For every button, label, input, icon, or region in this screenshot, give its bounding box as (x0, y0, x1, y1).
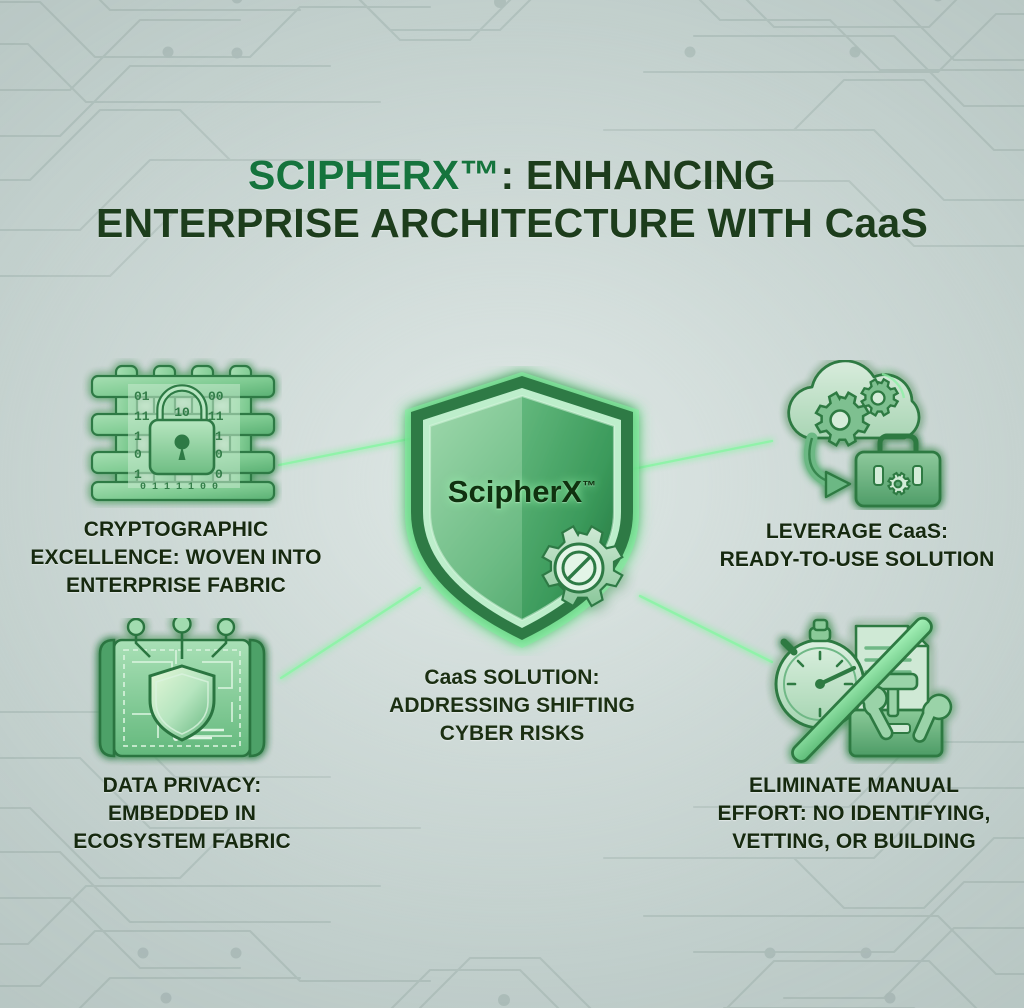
caption-eliminate-manual-effort: ELIMINATE MANUAL EFFORT: NO IDENTIFYING,… (684, 772, 1024, 856)
icon-tile-cryptographic-excellence: 0100 1111 11 00 10 0 1 1 1 1 0 0 10 (82, 358, 282, 508)
page-title: SCIPHERX™: ENHANCING ENTERPRISE ARCHITEC… (0, 152, 1024, 248)
caption-data-privacy: DATA PRIVACY: EMBEDDED IN ECOSYSTEM FABR… (14, 772, 350, 856)
svg-text:1: 1 (215, 429, 223, 444)
caption-leverage-caas: LEVERAGE CaaS: READY-TO-USE SOLUTION (690, 518, 1024, 574)
caption-line: CYBER RISKS (332, 720, 692, 748)
caption-line: EMBEDDED IN (14, 800, 350, 828)
svg-text:01: 01 (134, 389, 150, 404)
svg-text:0: 0 (134, 447, 142, 462)
central-shield-badge: ScipherX™ (383, 366, 661, 656)
caption-cryptographic-excellence: CRYPTOGRAPHIC EXCELLENCE: WOVEN INTO ENT… (0, 516, 352, 600)
icon-tile-leverage-caas (764, 360, 954, 510)
title-line-1: SCIPHERX™: ENHANCING (0, 152, 1024, 200)
caption-line: CaaS SOLUTION: (332, 664, 692, 692)
svg-text:0: 0 (215, 447, 223, 462)
caption-line: EXCELLENCE: WOVEN INTO (0, 544, 352, 572)
caption-line: CRYPTOGRAPHIC (0, 516, 352, 544)
caption-line: DATA PRIVACY: (14, 772, 350, 800)
svg-text:0 1 1 1 1 0 0: 0 1 1 1 1 0 0 (140, 482, 218, 493)
caption-center-caas-solution: CaaS SOLUTION: ADDRESSING SHIFTING CYBER… (332, 664, 692, 748)
svg-text:10: 10 (174, 405, 190, 420)
icon-tile-eliminate-manual-effort (760, 612, 966, 764)
brand-name: SCIPHERX™ (248, 152, 500, 198)
caption-line: ELIMINATE MANUAL (684, 772, 1024, 800)
svg-text:00: 00 (208, 389, 224, 404)
caption-line: READY-TO-USE SOLUTION (690, 546, 1024, 574)
caption-line: LEVERAGE CaaS: (690, 518, 1024, 546)
icon-tile-data-privacy (84, 618, 280, 766)
svg-text:11: 11 (134, 409, 150, 424)
caption-line: ENTERPRISE FABRIC (0, 572, 352, 600)
title-line-2: ENTERPRISE ARCHITECTURE WITH CaaS (0, 200, 1024, 248)
title-line-1-rest: : ENHANCING (500, 152, 776, 198)
svg-text:1: 1 (134, 429, 142, 444)
caption-line: ECOSYSTEM FABRIC (14, 828, 350, 856)
caption-line: VETTING, OR BUILDING (684, 828, 1024, 856)
svg-text:0: 0 (215, 467, 223, 482)
caption-line: EFFORT: NO IDENTIFYING, (684, 800, 1024, 828)
infographic-canvas: SCIPHERX™: ENHANCING ENTERPRISE ARCHITEC… (0, 0, 1024, 1008)
svg-text:1: 1 (134, 467, 142, 482)
caption-line: ADDRESSING SHIFTING (332, 692, 692, 720)
